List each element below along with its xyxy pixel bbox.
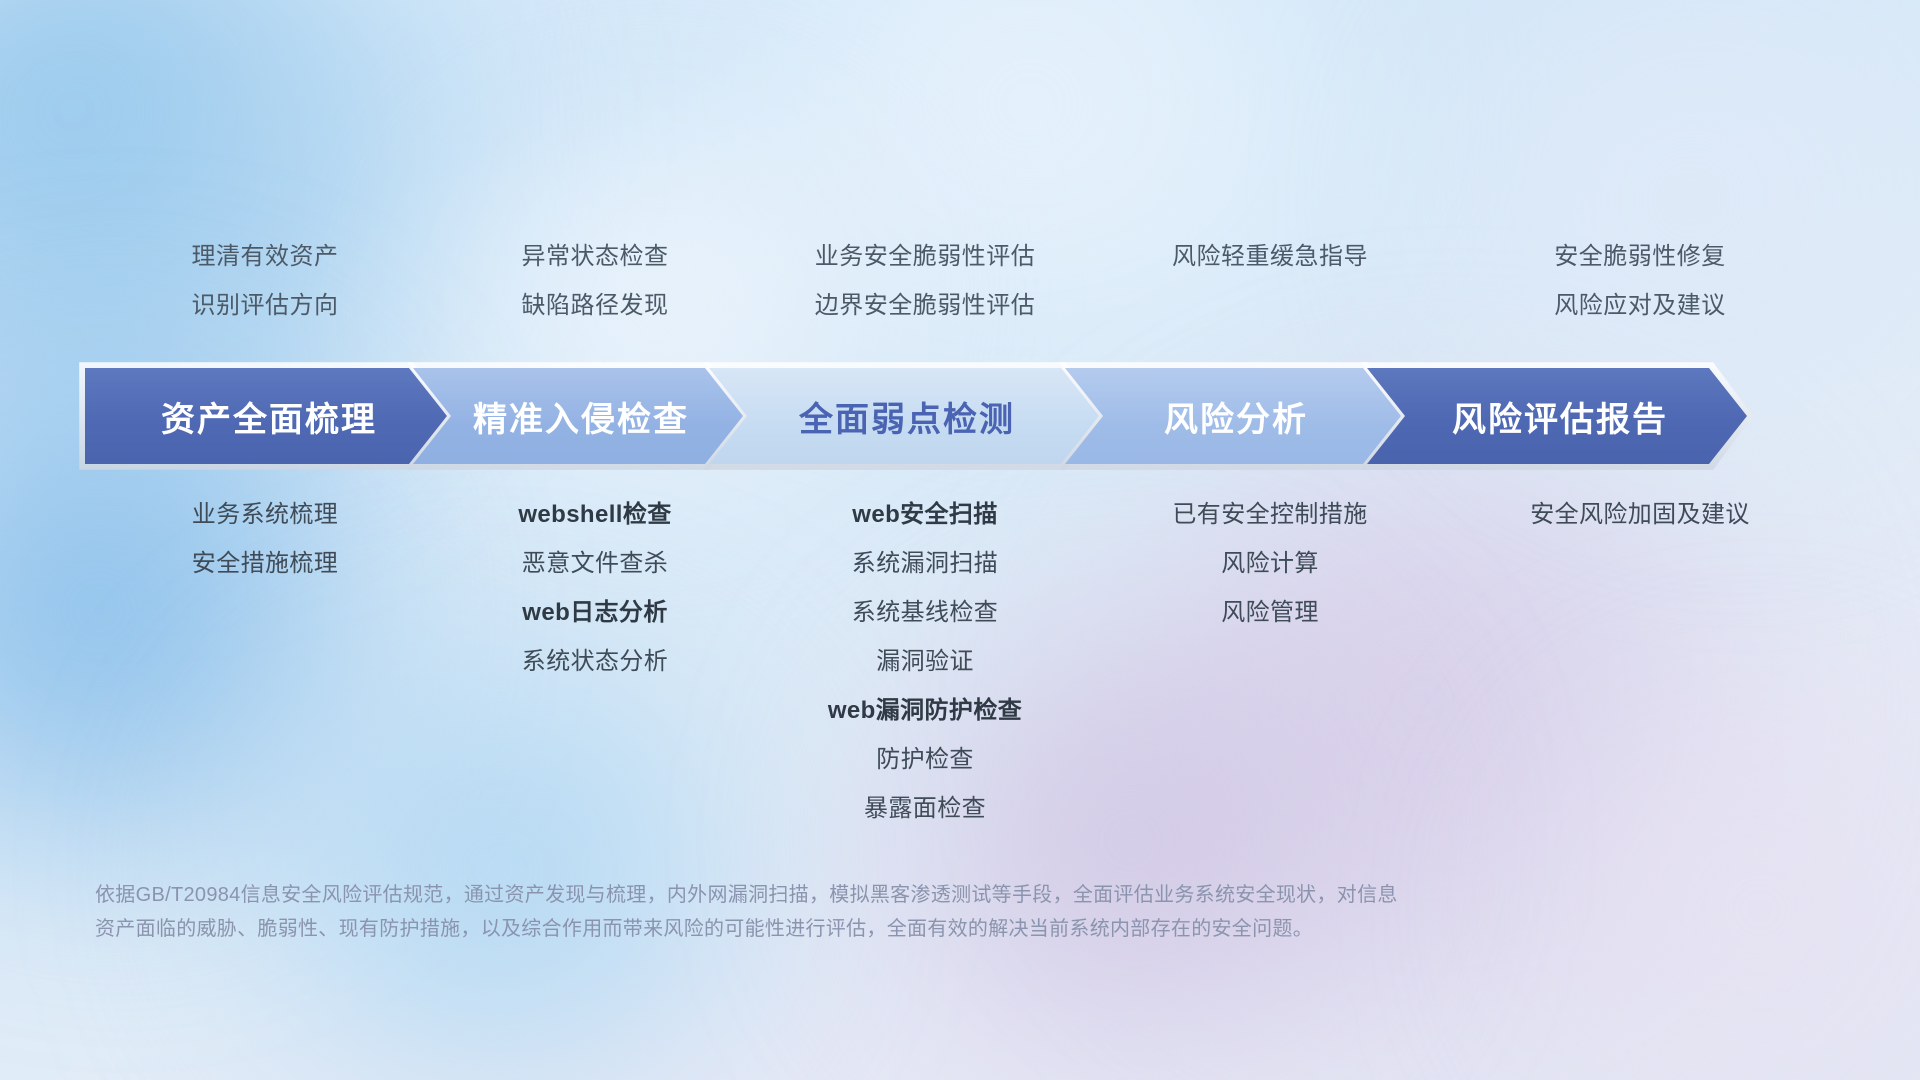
bottom-item: web安全扫描	[745, 490, 1105, 539]
process-step-label: 风险分析	[1158, 392, 1308, 441]
process-step-label: 资产全面梳理	[155, 392, 377, 441]
bottom-item: web漏洞防护检查	[745, 686, 1105, 735]
bottom-items-intrusion-check: webshell检查 恶意文件查杀 web日志分析 系统状态分析	[445, 490, 745, 686]
process-step-label: 全面弱点检测	[793, 392, 1015, 441]
process-step-label: 精准入侵检查	[467, 392, 689, 441]
bottom-item: 安全措施梳理	[85, 539, 445, 588]
top-notes-asset-inventory: 理清有效资产 识别评估方向	[85, 232, 445, 330]
bottom-item: 安全风险加固及建议	[1435, 490, 1845, 539]
top-note: 风险应对及建议	[1435, 281, 1845, 330]
bottom-items-weakness-detection: web安全扫描 系统漏洞扫描 系统基线检查 漏洞验证 web漏洞防护检查 防护检…	[745, 490, 1105, 833]
bottom-items-row: 业务系统梳理 安全措施梳理 webshell检查 恶意文件查杀 web日志分析 …	[85, 490, 1845, 833]
process-arrow-band: 资产全面梳理 精准入侵检查 全面弱点检测 风险分析 风险评估报告	[85, 368, 1845, 464]
bottom-item: 系统状态分析	[445, 637, 745, 686]
footer-line: 资产面临的威胁、脆弱性、现有防护措施，以及综合作用而带来风险的可能性进行评估，全…	[95, 912, 1735, 946]
process-step-label: 风险评估报告	[1446, 392, 1668, 441]
bottom-items-assessment-report: 安全风险加固及建议	[1435, 490, 1845, 539]
top-notes-risk-analysis: 风险轻重缓急指导	[1105, 232, 1435, 281]
bottom-item: 系统漏洞扫描	[745, 539, 1105, 588]
bottom-items-risk-analysis: 已有安全控制措施 风险计算 风险管理	[1105, 490, 1435, 637]
process-step-weakness-detection[interactable]: 全面弱点检测	[709, 368, 1099, 464]
bottom-item: 恶意文件查杀	[445, 539, 745, 588]
footer-description: 依据GB/T20984信息安全风险评估规范，通过资产发现与梳理，内外网漏洞扫描，…	[95, 878, 1735, 946]
top-notes-intrusion-check: 异常状态检查 缺陷路径发现	[445, 232, 745, 330]
top-notes-row: 理清有效资产 识别评估方向 异常状态检查 缺陷路径发现 业务安全脆弱性评估 边界…	[85, 232, 1845, 330]
bottom-item: 风险管理	[1105, 588, 1435, 637]
process-step-intrusion-check[interactable]: 精准入侵检查	[413, 368, 743, 464]
top-note: 缺陷路径发现	[445, 281, 745, 330]
top-note: 理清有效资产	[85, 232, 445, 281]
bottom-item: 业务系统梳理	[85, 490, 445, 539]
bottom-item: 暴露面检查	[745, 784, 1105, 833]
bottom-item: webshell检查	[445, 490, 745, 539]
bottom-item: 系统基线检查	[745, 588, 1105, 637]
bottom-item: 已有安全控制措施	[1105, 490, 1435, 539]
slide-stage: 理清有效资产 识别评估方向 异常状态检查 缺陷路径发现 业务安全脆弱性评估 边界…	[0, 0, 1920, 1080]
top-note: 识别评估方向	[85, 281, 445, 330]
bottom-item: 防护检查	[745, 735, 1105, 784]
bottom-item: web日志分析	[445, 588, 745, 637]
top-notes-assessment-report: 安全脆弱性修复 风险应对及建议	[1435, 232, 1845, 330]
top-note: 边界安全脆弱性评估	[745, 281, 1105, 330]
top-note: 业务安全脆弱性评估	[745, 232, 1105, 281]
bottom-item: 漏洞验证	[745, 637, 1105, 686]
bottom-item: 风险计算	[1105, 539, 1435, 588]
bottom-items-asset-inventory: 业务系统梳理 安全措施梳理	[85, 490, 445, 588]
top-note: 风险轻重缓急指导	[1105, 232, 1435, 281]
top-note: 安全脆弱性修复	[1435, 232, 1845, 281]
process-step-asset-inventory[interactable]: 资产全面梳理	[85, 368, 447, 464]
process-step-risk-analysis[interactable]: 风险分析	[1065, 368, 1401, 464]
footer-line: 依据GB/T20984信息安全风险评估规范，通过资产发现与梳理，内外网漏洞扫描，…	[95, 878, 1735, 912]
top-notes-weakness-detection: 业务安全脆弱性评估 边界安全脆弱性评估	[745, 232, 1105, 330]
top-note: 异常状态检查	[445, 232, 745, 281]
process-step-assessment-report[interactable]: 风险评估报告	[1367, 368, 1747, 464]
